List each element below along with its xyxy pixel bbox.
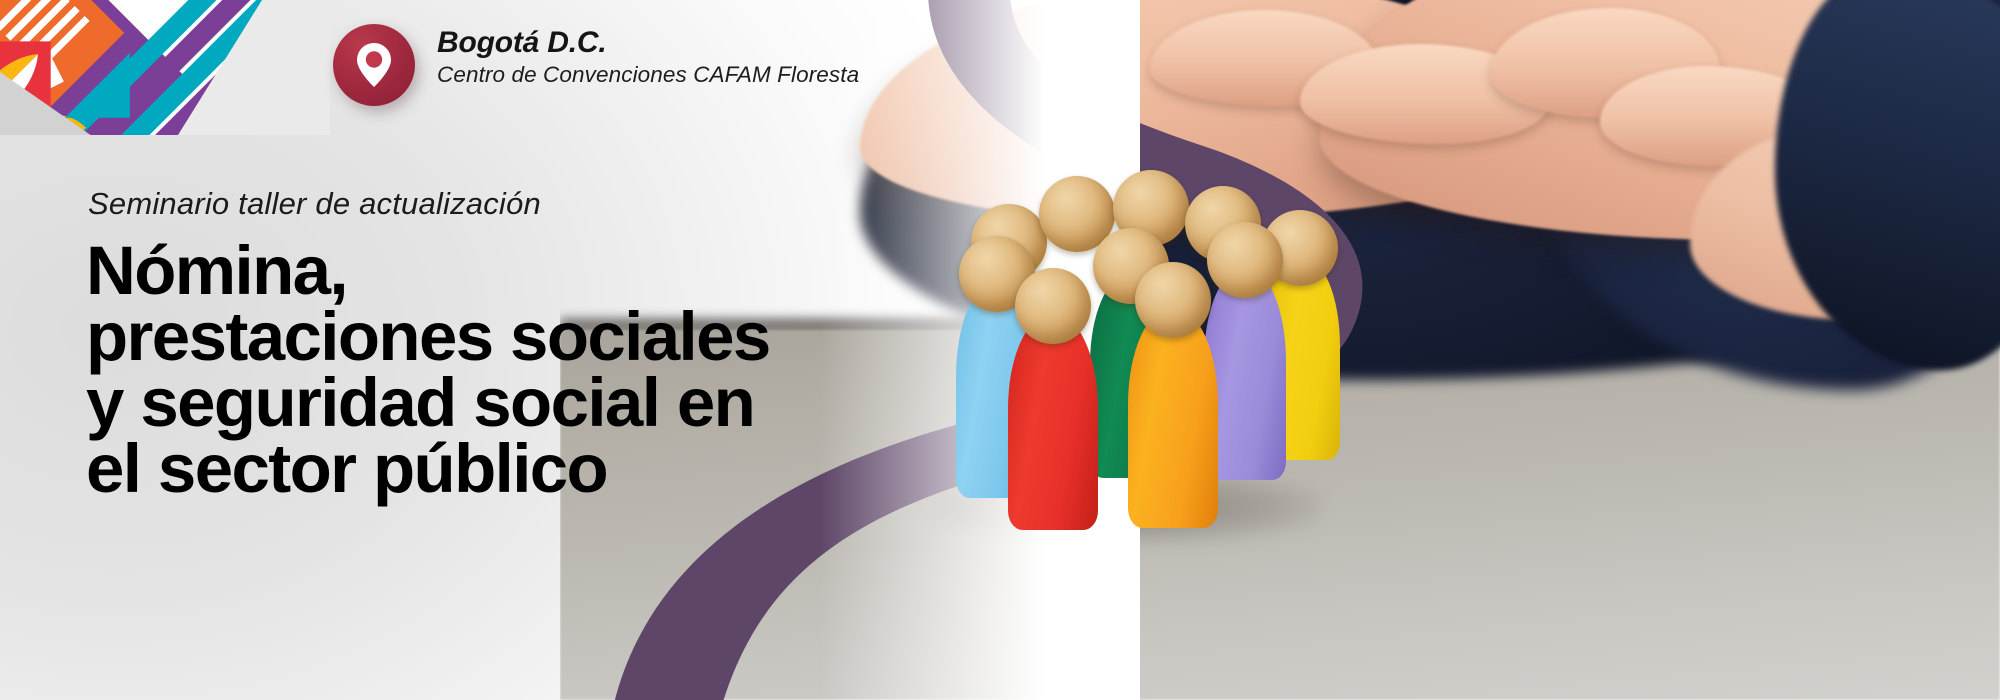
event-banner: Bogotá D.C. Centro de Convenciones CAFAM… xyxy=(0,0,2000,700)
event-title-line-1: Nómina, xyxy=(86,238,1046,304)
location-pin-icon xyxy=(354,41,394,89)
figurine-group xyxy=(960,170,1290,530)
event-kicker: Seminario taller de actualización xyxy=(88,186,541,222)
event-title-line-3: y seguridad social en xyxy=(86,370,1046,436)
venue-place: Centro de Convenciones CAFAM Floresta xyxy=(437,61,1137,88)
venue-city: Bogotá D.C. xyxy=(437,26,1137,60)
figurine-body xyxy=(1128,308,1218,528)
figurine-head xyxy=(1207,222,1283,298)
geometric-mosaic-logo xyxy=(0,0,330,135)
figurine-orange xyxy=(1128,262,1218,528)
event-title-line-2: prestaciones sociales xyxy=(86,304,1046,370)
figurine-head xyxy=(1135,262,1211,338)
event-title: Nómina, prestaciones sociales y segurida… xyxy=(86,238,1046,502)
venue-block: Bogotá D.C. Centro de Convenciones CAFAM… xyxy=(437,26,1137,88)
location-pin-badge xyxy=(333,24,415,106)
figurine-red xyxy=(1008,268,1098,530)
figurine-head xyxy=(1015,268,1091,344)
figurine-body xyxy=(1008,314,1098,530)
event-title-line-4: el sector público xyxy=(86,436,1046,502)
